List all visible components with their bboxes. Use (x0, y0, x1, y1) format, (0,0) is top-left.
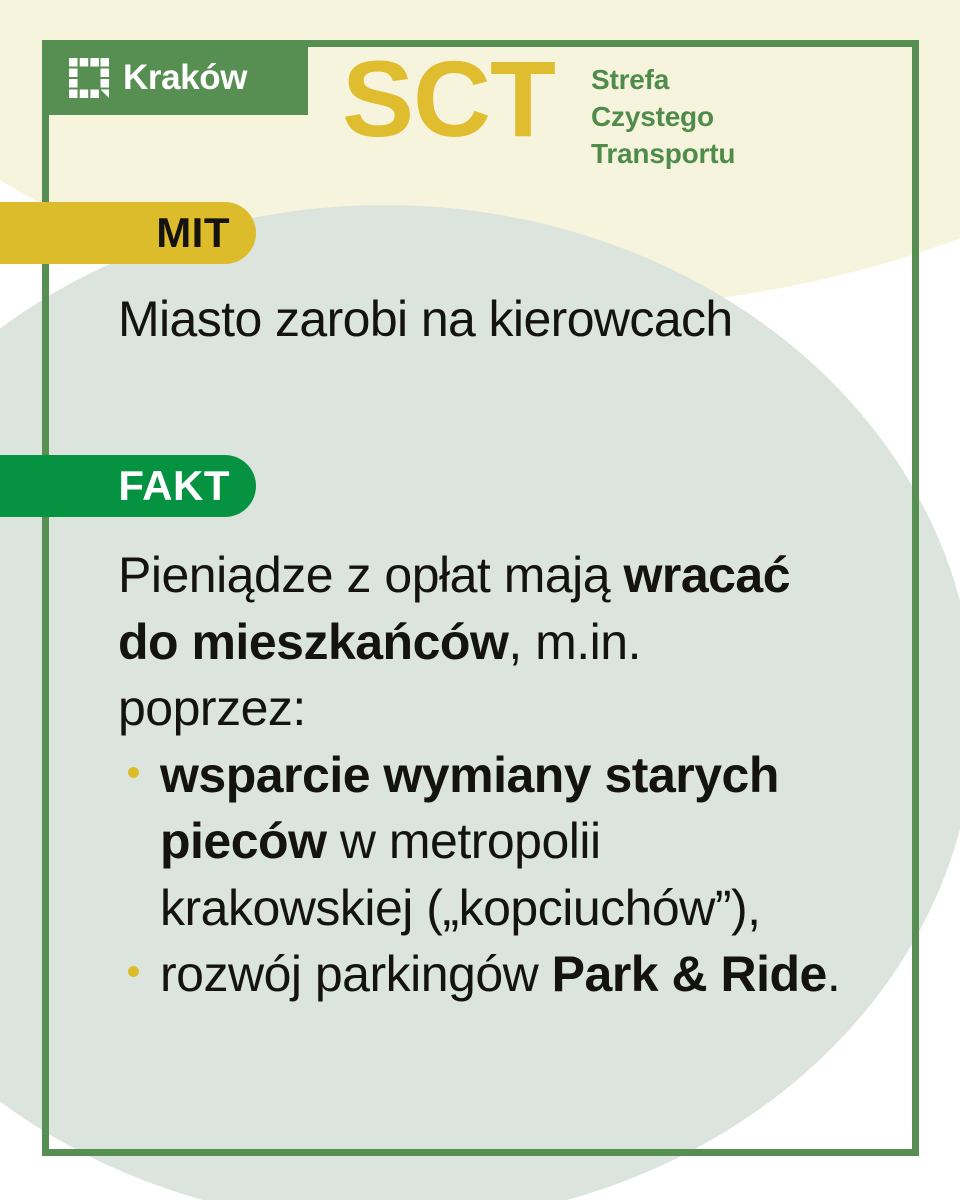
myth-statement: Miasto zarobi na kierowcach (118, 292, 898, 346)
plain-text: , m.in. (508, 614, 641, 670)
sct-myth-fact-poster: Kraków SCT Strefa Czystego Transportu MI… (0, 0, 960, 1200)
fact-paragraph: Pieniądze z opłat mają wracać do mieszka… (118, 542, 858, 675)
fact-lead-in: poprzez: (118, 675, 858, 742)
krakow-city-badge: Kraków (42, 40, 308, 115)
bullet-dot-icon (128, 767, 139, 778)
emphasis-text: Park & Ride (552, 946, 827, 1002)
fact-statement: Pieniądze z opłat mają wracać do mieszka… (118, 542, 858, 1008)
fact-badge-label: FAKT (118, 462, 230, 510)
plain-text: . (827, 946, 840, 1002)
poster-header: Kraków SCT Strefa Czystego Transportu (42, 40, 920, 190)
krakow-city-logo-icon (69, 58, 109, 98)
fact-bullet-item: wsparcie wymiany starych pieców w metrop… (118, 742, 858, 942)
sct-expansion-line-1: Strefa (591, 62, 735, 99)
myth-badge: MIT (0, 202, 256, 264)
sct-acronym: SCT (342, 46, 555, 152)
krakow-city-label: Kraków (123, 60, 247, 95)
fact-bullet-list: wsparcie wymiany starych pieców w metrop… (118, 742, 858, 1008)
fact-bullet-item: rozwój parkingów Park & Ride. (118, 941, 858, 1008)
sct-expansion: Strefa Czystego Transportu (591, 62, 735, 173)
sct-expansion-line-2: Czystego (591, 99, 735, 136)
fact-badge: FAKT (0, 455, 256, 517)
sct-lockup: SCT Strefa Czystego Transportu (342, 46, 735, 173)
bullet-dot-icon (128, 966, 139, 977)
plain-text: Pieniądze z opłat mają (118, 547, 623, 603)
sct-expansion-line-3: Transportu (591, 136, 735, 173)
plain-text: rozwój parkingów (160, 946, 552, 1002)
myth-badge-label: MIT (156, 209, 230, 257)
